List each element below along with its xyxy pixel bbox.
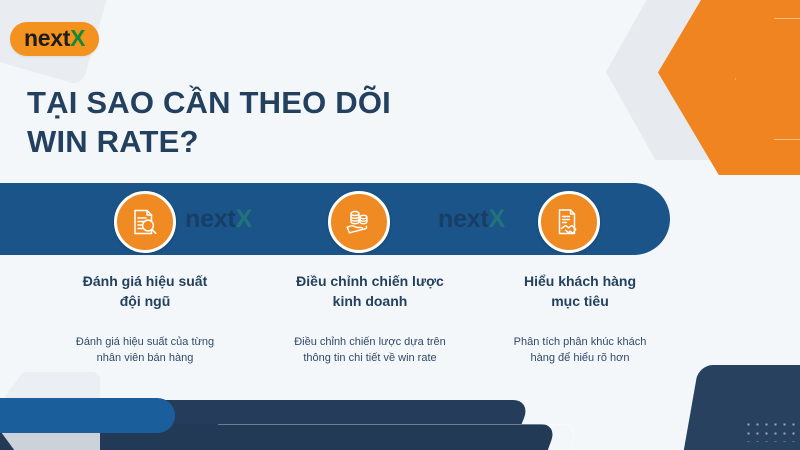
logo-text-prefix: next (24, 27, 70, 50)
watermark-suffix: X (236, 205, 252, 233)
feature-heading-2-line2: kinh doanh (333, 293, 408, 309)
watermark-prefix: next (438, 205, 489, 233)
bottom-navy-band (0, 400, 531, 450)
feature-heading-1: Đánh giá hiệu suất đội ngũ (30, 272, 260, 312)
feature-body-2: Điều chỉnh chiến lược dựa trên thông tin… (255, 334, 485, 367)
feature-body-1-line1: Đánh giá hiệu suất của từng (76, 336, 214, 348)
watermark-nextx-2: nextX (438, 207, 505, 232)
page-title: TẠI SAO CẦN THEO DÕI WIN RATE? (27, 83, 587, 162)
feature-body-3: Phân tích phân khúc khách hàng để hiểu r… (465, 334, 695, 367)
bottom-left-grey-hexagon (0, 372, 100, 450)
page-title-line2: WIN RATE? (27, 124, 199, 159)
orange-hexagon-shape (658, 0, 800, 175)
feature-heading-3-line1: Hiểu khách hàng (524, 273, 636, 289)
bottom-navy-outline (202, 424, 579, 450)
feature-heading-2-line1: Điều chỉnh chiến lược (296, 273, 444, 289)
outline-hexagon-shape (735, 18, 800, 140)
feature-body-3-line1: Phân tích phân khúc khách (514, 336, 647, 348)
icon-badge-3[interactable] (538, 191, 600, 253)
icon-badge-2[interactable] (328, 191, 390, 253)
grey-hexagon-shape (606, 0, 756, 160)
feature-body-1-line2: nhân viên bán hàng (97, 352, 194, 364)
document-search-icon (128, 205, 162, 239)
nextx-logo[interactable]: nextX (10, 22, 99, 56)
logo-text-suffix: X (70, 27, 85, 50)
feature-heading-1-line1: Đánh giá hiệu suất (83, 273, 207, 289)
watermark-nextx-1: nextX (185, 207, 252, 232)
contract-handshake-icon (552, 205, 586, 239)
feature-column-3: Hiểu khách hàng mục tiêu Phân tích phân … (465, 272, 695, 367)
feature-heading-3-line2: mục tiêu (551, 293, 609, 309)
watermark-prefix: next (185, 205, 236, 233)
feature-body-2-line2: thông tin chi tiết về win rate (303, 352, 436, 364)
feature-column-2: Điều chỉnh chiến lược kinh doanh Điều ch… (255, 272, 485, 367)
page-title-line1: TẠI SAO CẦN THEO DÕI (27, 85, 391, 120)
icon-badge-1[interactable] (114, 191, 176, 253)
bottom-navy-band-secondary (0, 424, 557, 450)
feature-heading-2: Điều chỉnh chiến lược kinh doanh (255, 272, 485, 312)
feature-body-1: Đánh giá hiệu suất của từng nhân viên bá… (30, 334, 260, 367)
feature-body-2-line1: Điều chỉnh chiến lược dựa trên (294, 336, 446, 348)
hand-coins-icon (342, 205, 376, 239)
feature-heading-1-line2: đội ngũ (120, 293, 171, 309)
feature-column-1: Đánh giá hiệu suất đội ngũ Đánh giá hiệu… (30, 272, 260, 367)
feature-body-3-line2: hàng để hiểu rõ hơn (531, 352, 630, 364)
watermark-suffix: X (489, 205, 505, 233)
dot-grid-pattern (744, 420, 796, 442)
slide-canvas: nextX TẠI SAO CẦN THEO DÕI WIN RATE? nex… (0, 0, 800, 450)
feature-heading-3: Hiểu khách hàng mục tiêu (465, 272, 695, 312)
bottom-left-blue-pill (0, 398, 175, 433)
bottom-right-navy-panel (681, 365, 800, 450)
